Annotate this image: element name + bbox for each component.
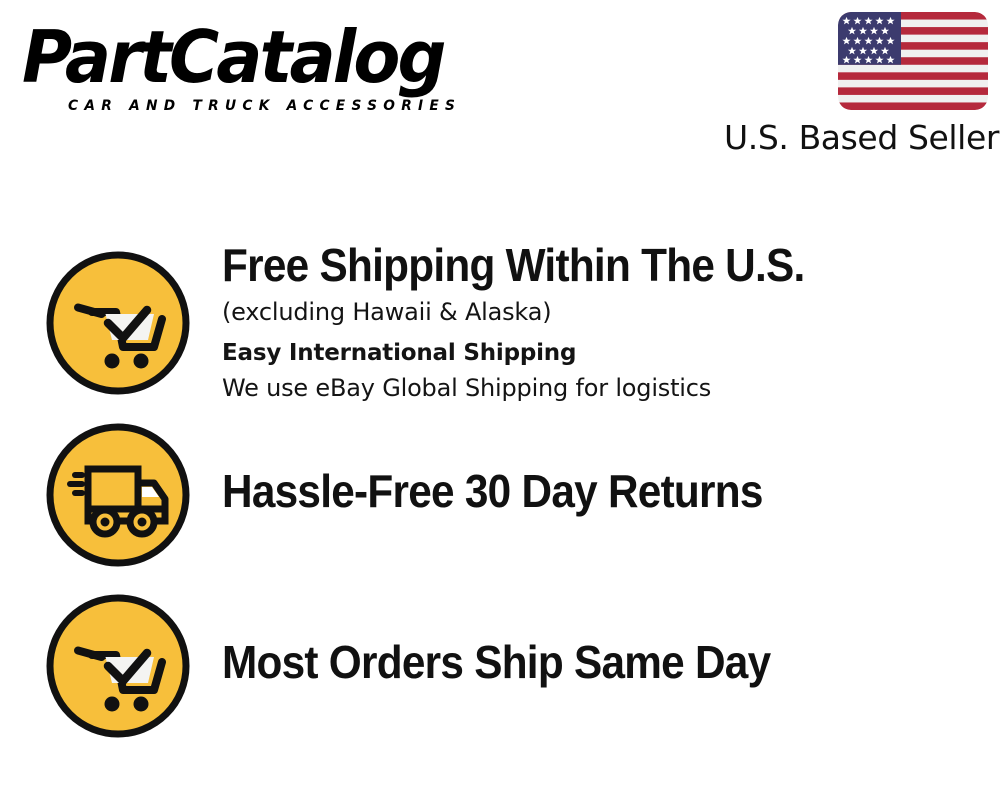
feature-headline: Hassle-Free 30 Day Returns bbox=[222, 465, 921, 517]
brand-tagline: CAR AND TRUCK ACCESSORIES bbox=[68, 98, 461, 114]
brand-logo: PartCatalog CAR AND TRUCK ACCESSORIES bbox=[22, 18, 492, 118]
us-flag-icon bbox=[838, 12, 988, 110]
delivery-truck-icon bbox=[44, 421, 192, 569]
feature-text: Most Orders Ship Same Day bbox=[222, 592, 982, 688]
feature-subtext: We use eBay Global Shipping for logistic… bbox=[222, 372, 982, 405]
feature-subtext: (excluding Hawaii & Alaska) bbox=[222, 296, 982, 329]
brand-wordmark: PartCatalog bbox=[22, 18, 444, 96]
shopping-cart-check-icon bbox=[44, 592, 192, 740]
feature-headline: Free Shipping Within The U.S. bbox=[222, 239, 921, 291]
feature-text: Free Shipping Within The U.S. (excluding… bbox=[222, 249, 982, 405]
feature-subheading: Easy International Shipping bbox=[222, 337, 982, 370]
feature-headline: Most Orders Ship Same Day bbox=[222, 636, 921, 688]
us-flag-badge bbox=[838, 12, 988, 110]
us-based-seller-label: U.S. Based Seller bbox=[724, 118, 992, 158]
shopping-cart-check-icon bbox=[44, 249, 192, 397]
feature-text: Hassle-Free 30 Day Returns bbox=[222, 421, 982, 517]
